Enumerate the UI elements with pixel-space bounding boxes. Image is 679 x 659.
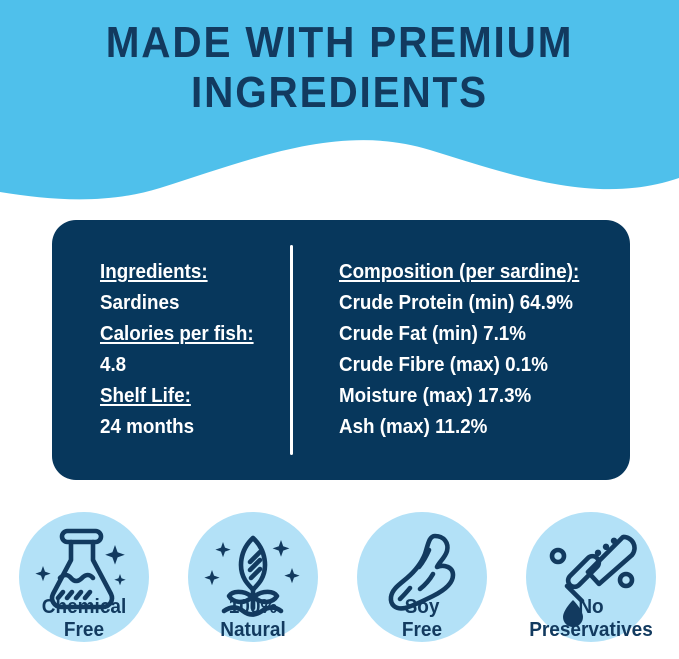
composition-heading: Composition (per sardine): bbox=[339, 257, 613, 288]
ingredients-heading: Ingredients: bbox=[100, 257, 279, 288]
badge-caption-line-2: Free bbox=[335, 619, 510, 642]
shelf-life-heading: Shelf Life: bbox=[100, 381, 279, 412]
crude-protein-value: Crude Protein (min) 64.9% bbox=[339, 288, 613, 319]
crude-fat-value: Crude Fat (min) 7.1% bbox=[339, 319, 613, 350]
badge-row: Chemical Free bbox=[0, 508, 679, 659]
badge-100-natural: 100% Natural bbox=[169, 508, 337, 659]
panel-right-column: Composition (per sardine): Crude Protein… bbox=[293, 220, 630, 480]
badge-caption-line-2: Natural bbox=[166, 619, 341, 642]
badge-caption-line-1: 100% bbox=[166, 596, 341, 619]
ash-value: Ash (max) 11.2% bbox=[339, 412, 613, 443]
badge-soy-free: Soy Free bbox=[338, 508, 506, 659]
moisture-value: Moisture (max) 17.3% bbox=[339, 381, 613, 412]
page-title: MADE WITH PREMIUM INGREDIENTS bbox=[27, 18, 652, 118]
badge-caption-line-1: No bbox=[504, 596, 679, 619]
crude-fibre-value: Crude Fibre (max) 0.1% bbox=[339, 350, 613, 381]
badge-caption-line-1: Soy bbox=[335, 596, 510, 619]
infographic-root: MADE WITH PREMIUM INGREDIENTS Ingredient… bbox=[0, 0, 679, 659]
calories-per-fish-heading: Calories per fish: bbox=[100, 319, 279, 350]
badge-caption: 100% Natural bbox=[166, 596, 341, 642]
badge-caption: Chemical Free bbox=[0, 596, 171, 642]
badge-chemical-free: Chemical Free bbox=[0, 508, 168, 659]
badge-no-preservatives: No Preservatives bbox=[507, 508, 675, 659]
badge-caption-line-2: Free bbox=[0, 619, 171, 642]
ingredients-value: Sardines bbox=[100, 288, 279, 319]
title-line-2: INGREDIENTS bbox=[27, 68, 652, 118]
shelf-life-value: 24 months bbox=[100, 412, 279, 443]
title-line-1: MADE WITH PREMIUM bbox=[27, 18, 652, 68]
panel-left-column: Ingredients: Sardines Calories per fish:… bbox=[52, 220, 290, 480]
badge-caption: No Preservatives bbox=[504, 596, 679, 642]
badge-caption-line-2: Preservatives bbox=[504, 619, 679, 642]
calories-per-fish-value: 4.8 bbox=[100, 350, 279, 381]
nutrition-panel: Ingredients: Sardines Calories per fish:… bbox=[52, 220, 630, 480]
badge-caption-line-1: Chemical bbox=[0, 596, 171, 619]
badge-caption: Soy Free bbox=[335, 596, 510, 642]
